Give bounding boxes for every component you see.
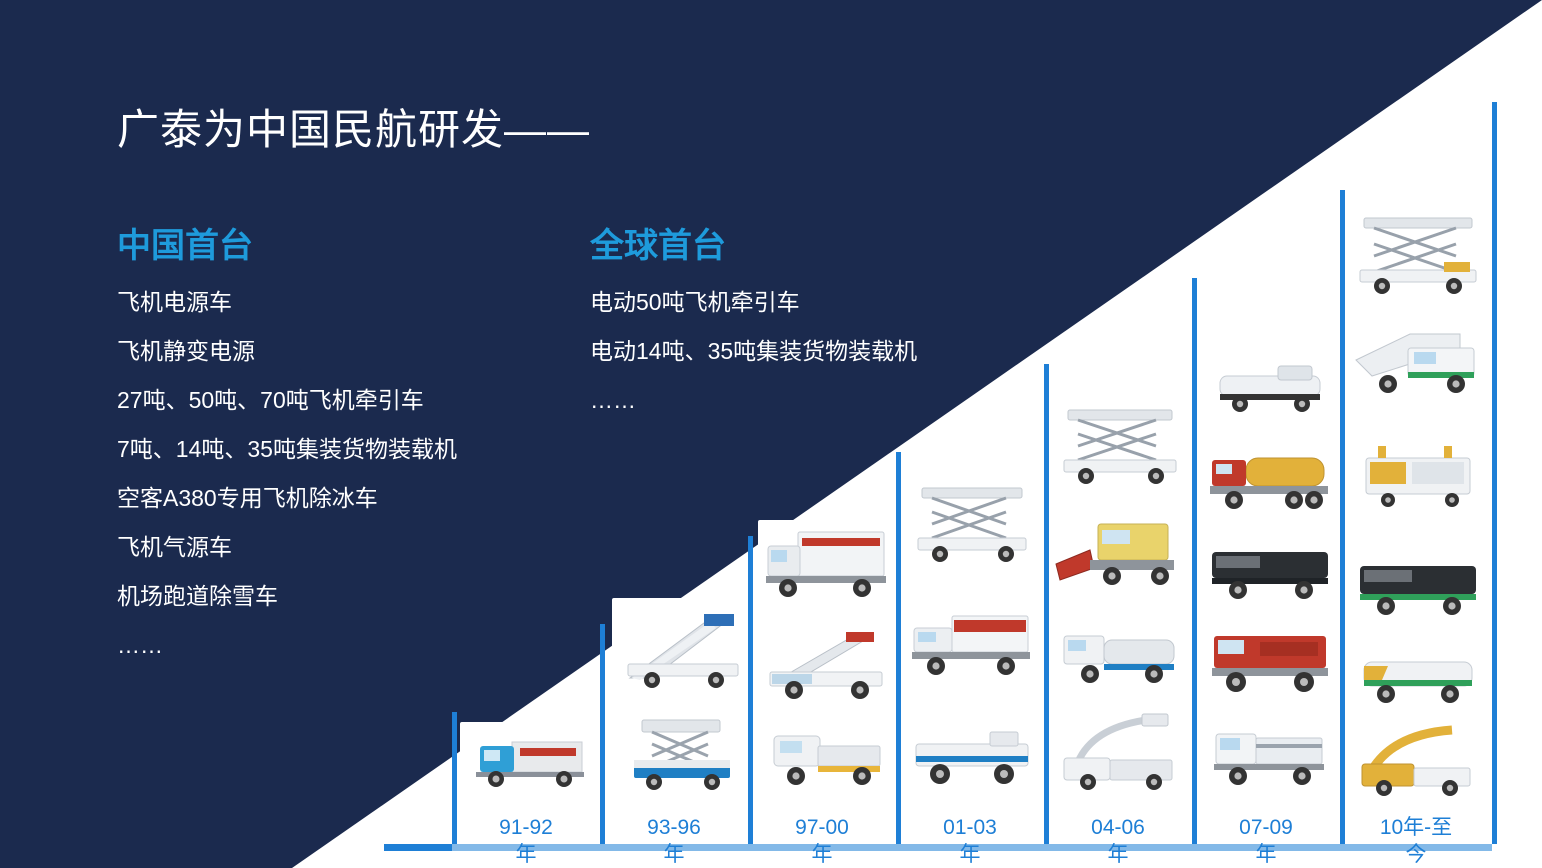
timeline-label: 04-06 年 <box>1058 814 1178 868</box>
timeline-label-unit: 年 <box>614 841 734 868</box>
timeline-label: 01-03 年 <box>910 814 1030 868</box>
timeline-label-period: 01-03 <box>910 814 1030 841</box>
timeline-label-unit: 年 <box>1058 841 1178 868</box>
timeline-label-period: 91-92 <box>466 814 586 841</box>
timeline-label: 97-00 年 <box>762 814 882 868</box>
timeline-tick <box>1044 364 1049 844</box>
timeline-tick <box>896 452 901 844</box>
timeline-label: 07-09 年 <box>1206 814 1326 868</box>
timeline-label-unit: 年 <box>466 841 586 868</box>
timeline-label-period: 10年-至 <box>1356 814 1476 841</box>
timeline-label-period: 97-00 <box>762 814 882 841</box>
timeline-tick <box>452 712 457 844</box>
timeline-label: 93-96 年 <box>614 814 734 868</box>
timeline-label: 91-92 年 <box>466 814 586 868</box>
timeline-tick <box>748 536 753 844</box>
timeline-label-unit: 今 <box>1356 841 1476 868</box>
timeline-label-period: 07-09 <box>1206 814 1326 841</box>
timeline-axis-segment <box>384 844 452 851</box>
timeline-tick <box>600 624 605 844</box>
timeline-tick <box>1192 278 1197 844</box>
timeline-label-period: 04-06 <box>1058 814 1178 841</box>
timeline-label-unit: 年 <box>762 841 882 868</box>
timeline-label: 10年-至 今 <box>1356 814 1476 868</box>
timeline-label-period: 93-96 <box>614 814 734 841</box>
timeline-tick <box>1340 190 1345 844</box>
timeline-label-unit: 年 <box>910 841 1030 868</box>
timeline-tick <box>1492 102 1497 844</box>
timeline-label-unit: 年 <box>1206 841 1326 868</box>
timeline: 91-92 年 93-96 年 97-00 年 01-03 年 04-06 年 … <box>0 0 1542 868</box>
